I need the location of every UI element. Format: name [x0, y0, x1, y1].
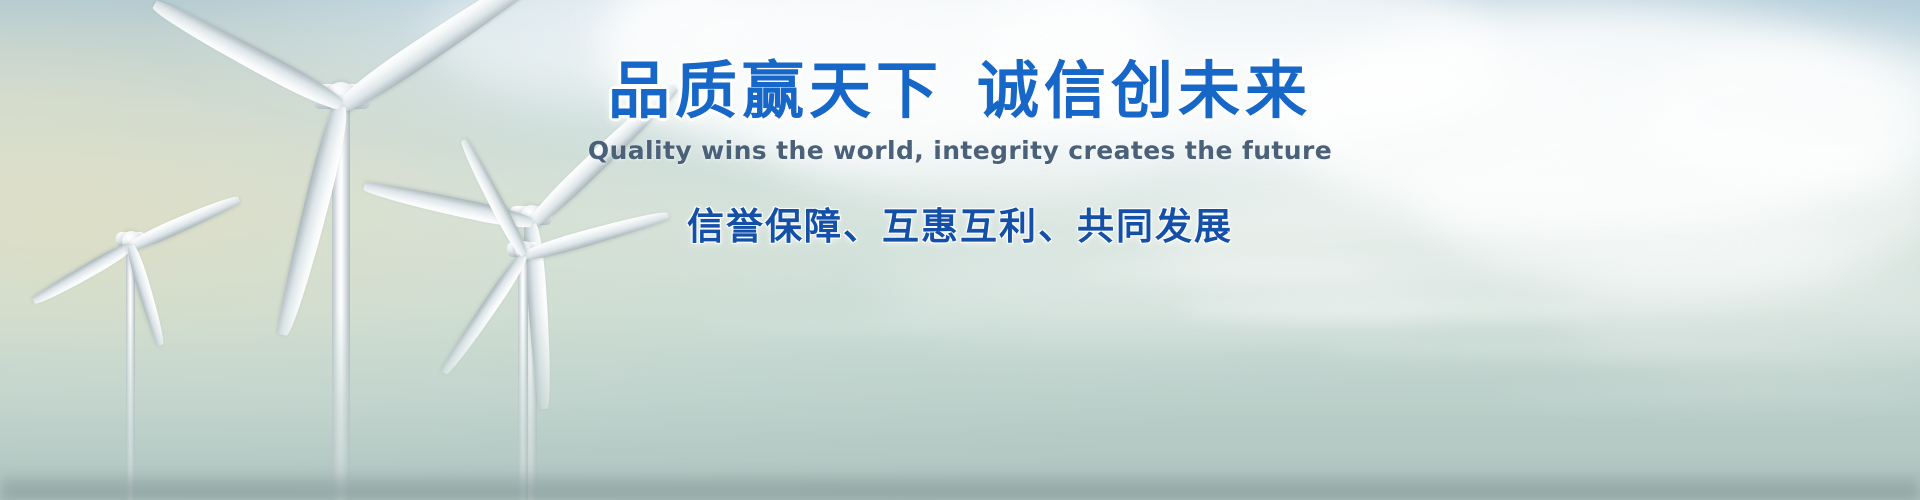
promo-banner: 品质赢天下诚信创未来 Quality wins the world, integ… — [0, 0, 1920, 500]
banner-headline: 品质赢天下诚信创未来 — [0, 56, 1920, 125]
banner-text-block: 品质赢天下诚信创未来 Quality wins the world, integ… — [0, 56, 1920, 250]
ground-line — [0, 474, 1920, 500]
headline-part-1: 品质赢天下 — [608, 54, 943, 127]
banner-subtitle-english: Quality wins the world, integrity create… — [0, 136, 1920, 165]
banner-tagline-chinese: 信誉保障、互惠互利、共同发展 — [0, 196, 1920, 250]
headline-part-2: 诚信创未来 — [977, 54, 1312, 127]
horizon-haze — [0, 310, 1920, 500]
